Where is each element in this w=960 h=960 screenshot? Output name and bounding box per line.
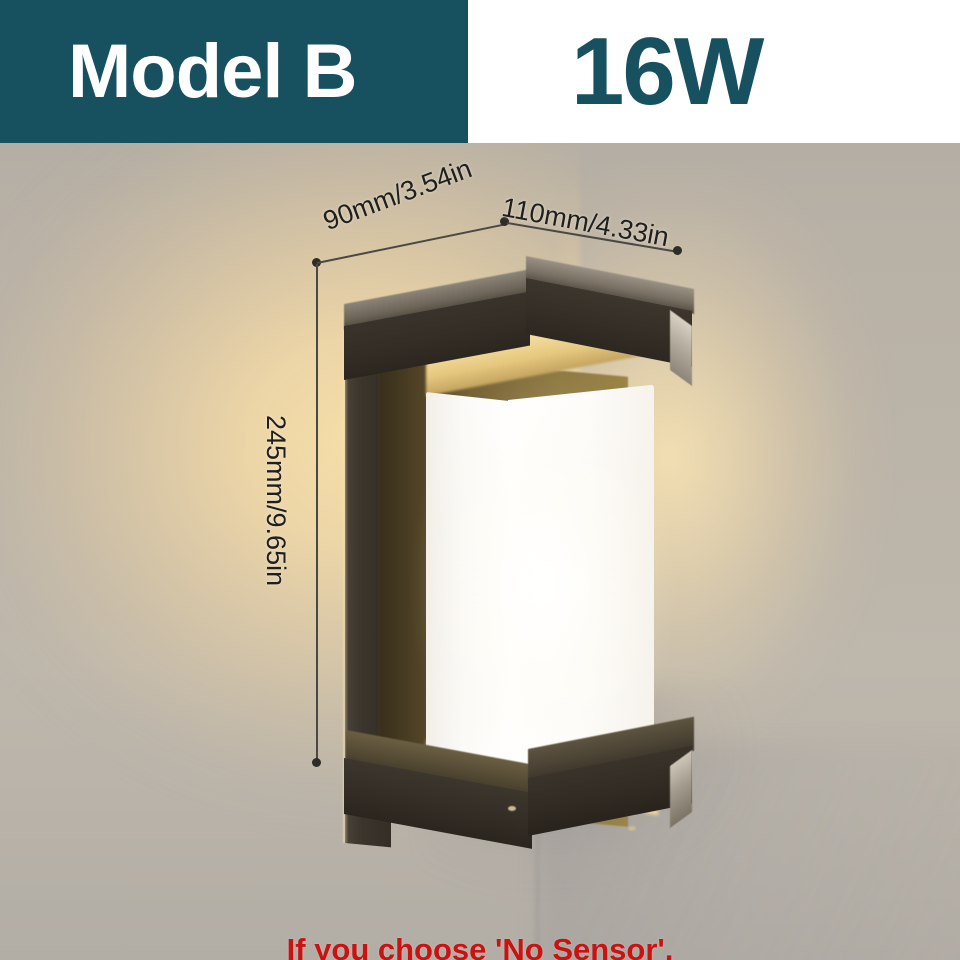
product-photo: 90mm/3.54in 110mm/4.33in 245mm/9.65in If…	[0, 143, 960, 960]
diffuser-screw-right	[628, 826, 636, 831]
wattage-label: 16W	[571, 24, 762, 120]
model-banner: Model B	[0, 0, 468, 143]
product-image-page: 90mm/3.54in 110mm/4.33in 245mm/9.65in If…	[0, 0, 960, 960]
diffuser-screw-left	[508, 806, 516, 811]
lamp-diffuser-panel	[426, 370, 662, 790]
notice-line-1: If you choose 'No Sensor',	[0, 932, 960, 960]
wattage-banner: 16W	[468, 0, 960, 143]
header-banner: Model B 16W	[0, 0, 960, 143]
diffuser-face-left	[426, 392, 510, 795]
model-label: Model B	[68, 34, 357, 110]
wall-lamp-fixture	[330, 218, 710, 858]
